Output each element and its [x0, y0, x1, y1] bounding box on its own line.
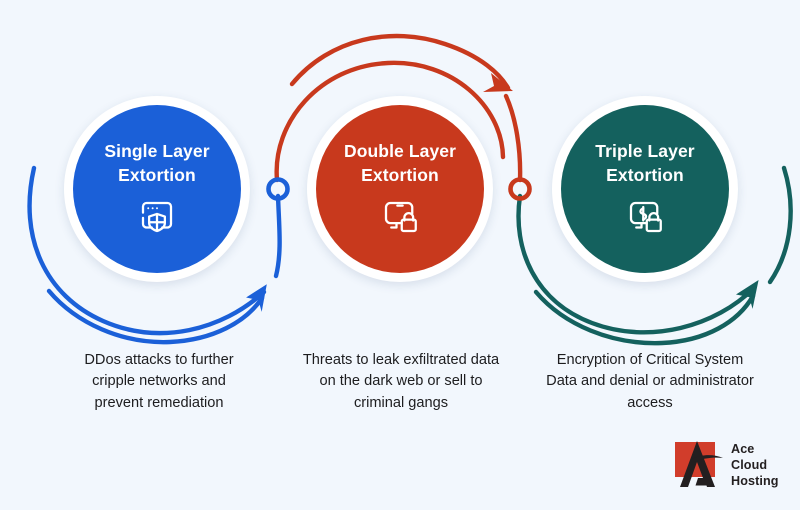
ace-cloud-hosting-logo[interactable]: Ace Cloud Hosting: [672, 440, 779, 490]
monitor-lock-icon: [379, 196, 421, 238]
connector-blue: [269, 180, 288, 199]
node-title-single-layer: Single Layer Extortion: [104, 140, 209, 186]
node-triple-layer-extortion[interactable]: Triple Layer Extortion: [552, 96, 738, 282]
browser-shield-icon: [136, 196, 178, 238]
node-double-layer-extortion[interactable]: Double Layer Extortion: [307, 96, 493, 282]
caption-double-layer: Threats to leak exfiltrated data on the …: [277, 350, 525, 414]
caption-single-layer: DDos attacks to further cripple networks…: [35, 350, 283, 414]
infographic-canvas: Single Layer Extortion Double Layer Exto…: [0, 0, 800, 510]
ace-logo-mark-icon: [672, 440, 724, 490]
caption-triple-layer: Encryption of Critical System Data and d…: [522, 350, 778, 414]
node-single-layer-extortion[interactable]: Single Layer Extortion: [64, 96, 250, 282]
node-title-double-layer: Double Layer Extortion: [344, 140, 456, 186]
arrowhead-red: [483, 73, 513, 92]
node-title-triple-layer: Triple Layer Extortion: [595, 140, 694, 186]
connector-red: [511, 180, 530, 199]
ace-logo-text: Ace Cloud Hosting: [731, 441, 779, 489]
arrowhead-blue: [245, 284, 270, 313]
arrowhead-teal: [735, 280, 762, 310]
monitor-dollar-lock-icon: [624, 196, 666, 238]
